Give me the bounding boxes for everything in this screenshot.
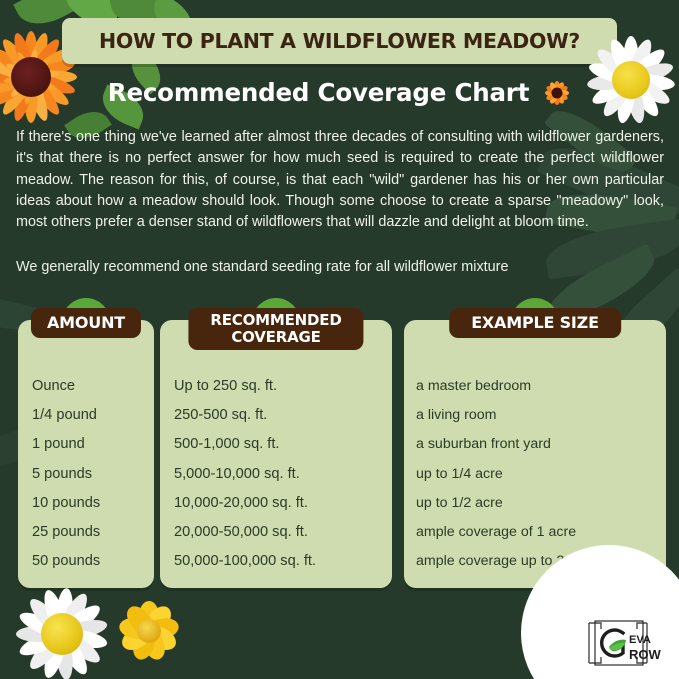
- orange-flower-icon-small: [543, 79, 571, 107]
- flower-center: [41, 613, 83, 655]
- table-cell: a master bedroom: [416, 372, 654, 401]
- column-cells-example-size: a master bedroom a living room a suburba…: [404, 372, 666, 576]
- table-cell: 10 pounds: [32, 489, 140, 518]
- column-header-coverage: RECOMMENDED COVERAGE: [188, 308, 363, 350]
- table-cell: 500-1,000 sq. ft.: [174, 430, 378, 459]
- table-cell: a living room: [416, 401, 654, 430]
- subtitle: Recommended Coverage Chart: [108, 78, 529, 107]
- column-header-label: EXAMPLE SIZE: [471, 314, 599, 332]
- column-cells-coverage: Up to 250 sq. ft. 250-500 sq. ft. 500-1,…: [160, 372, 392, 576]
- table-cell: 50 pounds: [32, 547, 140, 576]
- logo-text-eva: EVA: [629, 634, 651, 646]
- table-cell: up to 1/4 acre: [416, 460, 654, 489]
- white-daisy-flower-bottomleft: [6, 578, 118, 679]
- flower-center: [612, 61, 650, 99]
- table-cell: 250-500 sq. ft.: [174, 401, 378, 430]
- eva-grow-logo-icon: EVA ROW: [571, 615, 665, 671]
- intro-paragraph: If there's one thing we've learned after…: [16, 127, 664, 233]
- table-cell: 1 pound: [32, 430, 140, 459]
- table-cell: 50,000-100,000 sq. ft.: [174, 547, 378, 576]
- table-cell: a suburban front yard: [416, 430, 654, 459]
- table-cell: up to 1/2 acre: [416, 489, 654, 518]
- table-cell: 1/4 pound: [32, 401, 140, 430]
- table-cell: Ounce: [32, 372, 140, 401]
- table-cell: 20,000-50,000 sq. ft.: [174, 518, 378, 547]
- table-cell: 5 pounds: [32, 460, 140, 489]
- recommendation-note: We generally recommend one standard seed…: [16, 257, 664, 278]
- flower-center: [137, 619, 161, 643]
- table-cell: 5,000-10,000 sq. ft.: [174, 460, 378, 489]
- title-banner: HOW TO PLANT A WILDFLOWER MEADOW?: [62, 18, 617, 64]
- white-daisy-flower-topright: [575, 24, 679, 136]
- column-header-amount: AMOUNT: [31, 308, 141, 338]
- page-title: HOW TO PLANT A WILDFLOWER MEADOW?: [99, 29, 580, 53]
- column-header-label: AMOUNT: [47, 314, 125, 332]
- table-cell: 10,000-20,000 sq. ft.: [174, 489, 378, 518]
- column-header-label-line1: RECOMMENDED: [210, 312, 341, 329]
- table-cell: 25 pounds: [32, 518, 140, 547]
- column-cells-amount: Ounce 1/4 pound 1 pound 5 pounds 10 poun…: [18, 372, 154, 576]
- logo-text-row: ROW: [629, 647, 662, 662]
- column-header-example-size: EXAMPLE SIZE: [449, 308, 621, 338]
- infographic-poster: HOW TO PLANT A WILDFLOWER MEADOW? Recomm…: [0, 0, 679, 679]
- table-cell: Up to 250 sq. ft.: [174, 372, 378, 401]
- column-header-label-line2: COVERAGE: [210, 329, 341, 346]
- table-cell: ample coverage of 1 acre: [416, 518, 654, 547]
- eva-grow-logo[interactable]: EVA ROW: [571, 615, 665, 671]
- yellow-coreopsis-flower-bottomleft: [110, 592, 188, 670]
